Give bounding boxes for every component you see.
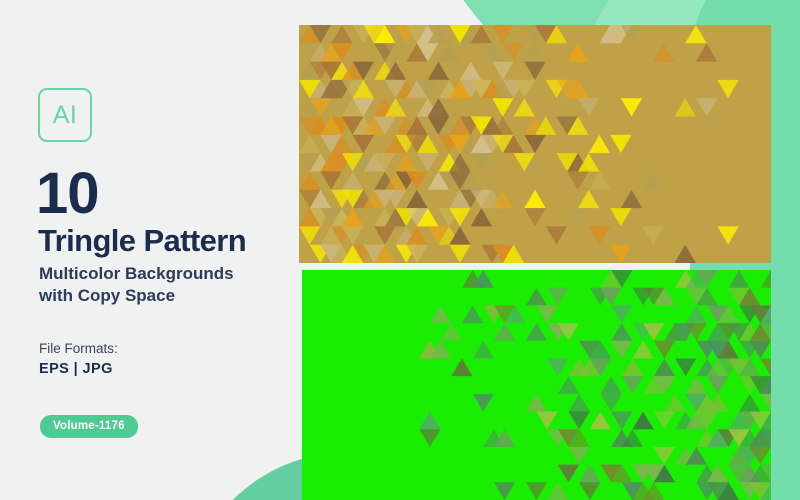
file-formats-value: EPS | JPG <box>39 361 113 377</box>
green-pattern-svg <box>302 270 771 500</box>
poster-canvas: AI 10 Tringle Pattern Multicolor Backgro… <box>0 0 800 500</box>
volume-badge: Volume-1176 <box>40 415 138 438</box>
file-formats-label: File Formats: <box>39 341 118 356</box>
page-title: Tringle Pattern <box>38 225 246 256</box>
item-count: 10 <box>36 165 99 223</box>
info-column: AI 10 Tringle Pattern Multicolor Backgro… <box>38 0 300 500</box>
preview-gold-triangle-pattern <box>299 25 771 263</box>
page-subtitle: Multicolor Backgroundswith Copy Space <box>39 263 309 307</box>
ai-format-badge-label: AI <box>53 103 78 128</box>
gold-pattern-svg <box>299 25 771 263</box>
preview-green-triangle-pattern <box>302 270 771 500</box>
ai-format-badge: AI <box>38 88 92 142</box>
